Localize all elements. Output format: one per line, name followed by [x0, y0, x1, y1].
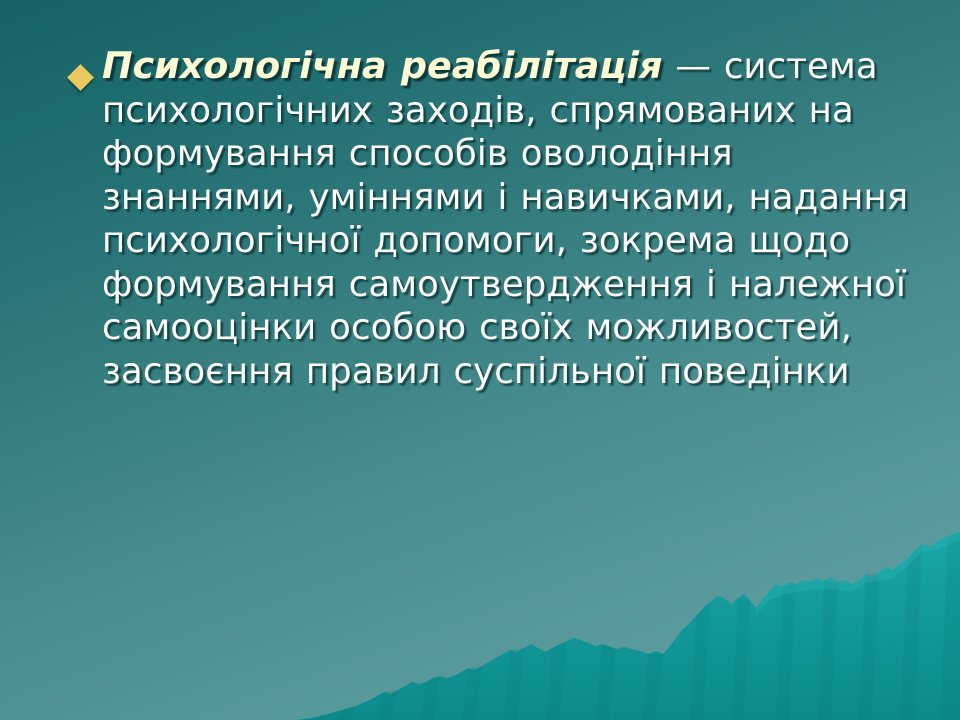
definition-paragraph: Психологічна реабілітація — система псих…: [102, 44, 922, 393]
presentation-slide: Психологічна реабілітація — система псих…: [0, 0, 960, 720]
mountain-ridge-icon: [0, 520, 960, 720]
definition-text: система психологічних заходів, спрямован…: [102, 46, 908, 392]
slide-body: Психологічна реабілітація — система псих…: [62, 44, 922, 393]
em-dash-separator: —: [662, 46, 723, 87]
term-emphasis: Психологічна реабілітація: [102, 44, 662, 87]
bullet-list-item: Психологічна реабілітація — система псих…: [62, 44, 922, 393]
diamond-bullet-icon: [67, 64, 94, 91]
